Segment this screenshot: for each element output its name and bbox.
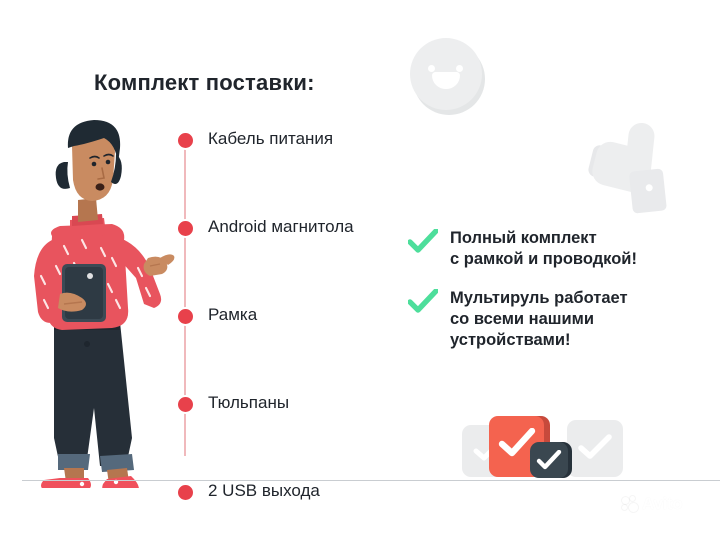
ground-line: [22, 480, 720, 481]
benefit-line: Полный комплект: [450, 228, 708, 249]
avito-logo-icon: [622, 496, 639, 513]
package-contents-list: Кабель питания Android магнитола Рамка Т…: [176, 130, 426, 460]
page-title: Комплект поставки:: [94, 70, 315, 96]
benefit-item: Полный комплект с рамкой и проводкой!: [408, 228, 708, 270]
list-item-label: Рамка: [208, 306, 257, 324]
avito-watermark: Avito: [622, 494, 682, 514]
list-item-label: Android магнитола: [208, 218, 354, 236]
benefit-line: Мультируль работает: [450, 288, 708, 309]
check-icon: [408, 229, 438, 255]
benefit-line: с рамкой и проводкой!: [450, 249, 708, 270]
avito-brand-text: Avito: [642, 494, 682, 514]
smiley-face-icon: [410, 38, 482, 110]
bullet-dot-icon: [178, 221, 193, 236]
benefit-line: устройствами!: [450, 330, 708, 351]
list-item-label: Кабель питания: [208, 130, 333, 148]
promo-banner: Комплект поставки: Кабель питания Androi…: [0, 0, 720, 540]
list-item-label: 2 USB выхода: [208, 482, 320, 500]
bullet-dot-icon: [178, 133, 193, 148]
benefits-list: Полный комплект с рамкой и проводкой! Му…: [408, 228, 708, 366]
checkbox-cards-decoration: [462, 412, 622, 484]
bullet-dot-icon: [178, 485, 193, 500]
bullet-dot-icon: [178, 397, 193, 412]
benefit-item: Мультируль работает со всеми нашими устр…: [408, 288, 708, 351]
woman-with-tablet-pointing-illustration: [8, 108, 178, 488]
check-icon: [578, 434, 612, 462]
benefit-line: со всеми нашими: [450, 309, 708, 330]
check-icon: [536, 450, 562, 472]
list-item-label: Тюльпаны: [208, 394, 289, 412]
thumbs-up-icon: [578, 110, 690, 225]
check-icon: [408, 289, 438, 315]
bullet-dot-icon: [178, 309, 193, 324]
